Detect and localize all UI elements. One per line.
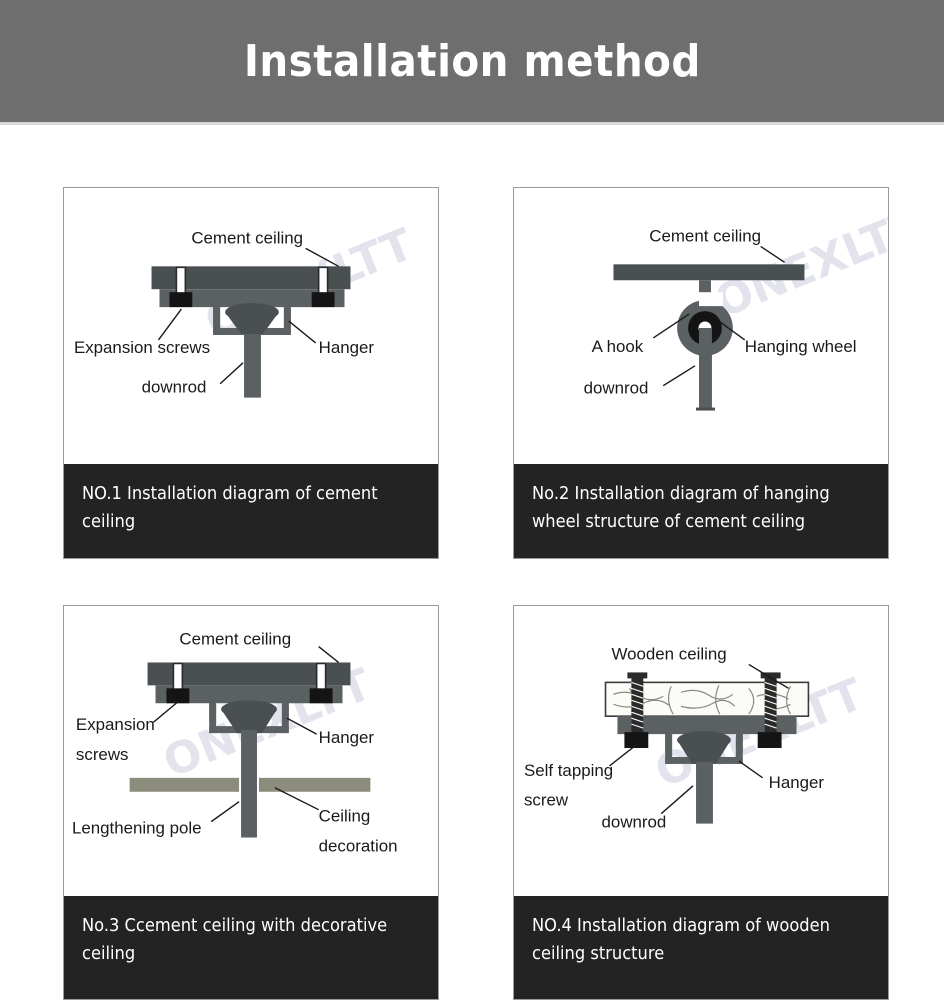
- caption-no-4-line-1: NO.4 Installation diagram of wooden: [532, 912, 846, 940]
- downrod-shaft: [699, 328, 712, 410]
- leader-hanger: [289, 321, 316, 343]
- label-cement-ceiling: Cement ceiling: [179, 630, 291, 649]
- hanger-dome-top: [225, 303, 279, 321]
- decorative-ceiling-diagram: ONEXLTT: [64, 606, 438, 896]
- diagram-panel-no-4: ONEXLTT: [513, 605, 889, 1000]
- expansion-screw-left-nut: [166, 688, 189, 703]
- hanger-dome-top: [677, 731, 731, 749]
- caption-no-3-line-1: No.3 Ccement ceiling with decorative: [82, 912, 396, 940]
- lengthening-pole: [241, 730, 257, 837]
- label-expansion-line-2: screws: [76, 745, 129, 764]
- leader-screws: [154, 702, 178, 722]
- label-hanging-wheel: Hanging wheel: [745, 337, 857, 356]
- watermark-text: ONEXLTT: [708, 199, 888, 328]
- installation-method-page: Installation method ONEXLTT: [0, 0, 944, 1000]
- label-cement-ceiling: Cement ceiling: [649, 226, 761, 245]
- caption-no-2-line-1: No.2 Installation diagram of hanging: [532, 480, 846, 508]
- label-hanger: Hanger: [319, 728, 375, 747]
- expansion-screw-left-shaft: [173, 663, 182, 691]
- label-decoration-line-2: decoration: [319, 836, 398, 855]
- hanging-wheel-diagram: ONEXLTT: [514, 188, 888, 465]
- hook-gap: [699, 292, 723, 306]
- page-header-banner: Installation method: [0, 0, 944, 122]
- label-self-tapping-line-2: screw: [524, 791, 569, 810]
- caption-no-2: No.2 Installation diagram of hanging whe…: [514, 464, 888, 558]
- caption-no-1-line-2: ceiling: [82, 508, 396, 536]
- ceiling-decoration-right: [259, 778, 370, 792]
- diagram-panel-no-1: ONEXLTT: [63, 187, 439, 559]
- leader-downrod: [663, 366, 695, 386]
- label-decoration-line-1: Ceiling: [319, 807, 371, 826]
- caption-no-1: NO.1 Installation diagram of cement ceil…: [64, 464, 438, 558]
- cement-ceiling-slab: [613, 264, 804, 280]
- expansion-screw-left-shaft: [176, 267, 185, 295]
- figure-no-4: ONEXLTT: [514, 606, 888, 896]
- label-expansion-screws: Expansion screws: [74, 338, 210, 357]
- label-hanger: Hanger: [769, 773, 825, 792]
- expansion-screw-right-shaft: [317, 663, 326, 691]
- leader-ceiling: [319, 647, 339, 663]
- cement-ceiling-diagram: ONEXLTT: [64, 188, 438, 465]
- diagram-panel-no-3: ONEXLTT: [63, 605, 439, 1000]
- leader-pole: [211, 802, 239, 822]
- page-title: Installation method: [243, 36, 700, 87]
- expansion-screw-right-shaft: [319, 267, 328, 295]
- label-hanger: Hanger: [319, 338, 375, 357]
- caption-no-3: No.3 Ccement ceiling with decorative cei…: [64, 896, 438, 999]
- label-expansion-line-1: Expansion: [76, 715, 155, 734]
- label-lengthening-pole: Lengthening pole: [72, 819, 202, 838]
- label-wooden-ceiling: Wooden ceiling: [611, 644, 726, 663]
- diagram-panel-no-2: ONEXLTT: [513, 187, 889, 559]
- caption-no-4: NO.4 Installation diagram of wooden ceil…: [514, 896, 888, 999]
- leader-screw: [609, 744, 637, 766]
- leader-screws: [158, 309, 181, 340]
- expansion-screw-right-nut: [310, 688, 333, 703]
- caption-no-1-line-1: NO.1 Installation diagram of cement: [82, 480, 396, 508]
- hanger-dome-top: [221, 700, 277, 718]
- caption-no-3-line-2: ceiling: [82, 940, 396, 968]
- label-downrod: downrod: [142, 378, 207, 397]
- downrod-shaft: [244, 334, 261, 398]
- wooden-ceiling-diagram: ONEXLTT: [514, 606, 888, 896]
- label-a-hook: A hook: [592, 337, 644, 356]
- figure-no-3: ONEXLTT: [64, 606, 438, 896]
- label-self-tapping-line-1: Self tapping: [524, 761, 613, 780]
- expansion-screw-right-nut: [312, 292, 335, 307]
- downrod-end-cap: [696, 408, 715, 411]
- figure-no-2: ONEXLTT: [514, 188, 888, 465]
- expansion-screw-left-nut: [169, 292, 192, 307]
- caption-no-2-line-2: wheel structure of cement ceiling: [532, 508, 846, 536]
- downrod-shaft: [696, 762, 713, 824]
- leader-downrod: [220, 363, 243, 384]
- figure-no-1: ONEXLTT: [64, 188, 438, 465]
- label-downrod: downrod: [584, 379, 649, 398]
- ceiling-decoration-left: [130, 778, 239, 792]
- diagram-grid: ONEXLTT: [0, 122, 944, 1000]
- caption-no-4-line-2: ceiling structure: [532, 940, 846, 968]
- label-cement-ceiling: Cement ceiling: [191, 228, 303, 247]
- label-downrod: downrod: [602, 813, 667, 832]
